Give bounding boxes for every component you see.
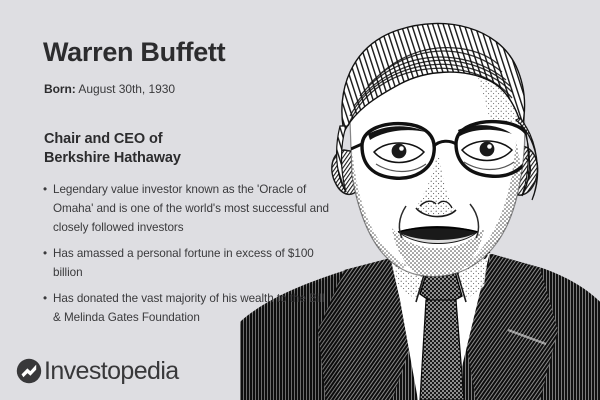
bullet-marker: • — [43, 289, 47, 308]
list-item-text: Has amassed a personal fortune in excess… — [53, 247, 314, 279]
text-column: Warren Buffett Born: August 30th, 1930 C… — [43, 0, 333, 400]
page-title: Warren Buffett — [43, 38, 225, 66]
role-line-2: Berkshire Hathaway — [44, 149, 181, 168]
list-item: • Has donated the vast majority of his w… — [43, 289, 333, 327]
list-item-text: Legendary value investor known as the 'O… — [53, 183, 329, 234]
born-value: August 30th, 1930 — [78, 82, 175, 96]
fact-list: • Legendary value investor known as the … — [43, 180, 333, 334]
infographic-card: Warren Buffett Born: August 30th, 1930 C… — [0, 0, 600, 400]
investopedia-wordmark: Investopedia — [44, 359, 179, 384]
bullet-marker: • — [43, 180, 47, 199]
list-item: • Has amassed a personal fortune in exce… — [43, 244, 333, 282]
born-label: Born: — [44, 82, 76, 96]
investopedia-circle-arrow-icon — [16, 358, 42, 384]
role-block: Chair and CEO of Berkshire Hathaway — [44, 130, 181, 169]
bullet-marker: • — [43, 244, 47, 263]
role-line-1: Chair and CEO of — [44, 130, 181, 149]
born-line: Born: August 30th, 1930 — [44, 82, 175, 96]
investopedia-logo[interactable]: Investopedia — [16, 358, 179, 384]
list-item: • Legendary value investor known as the … — [43, 180, 333, 237]
list-item-text: Has donated the vast majority of his wea… — [53, 292, 324, 324]
